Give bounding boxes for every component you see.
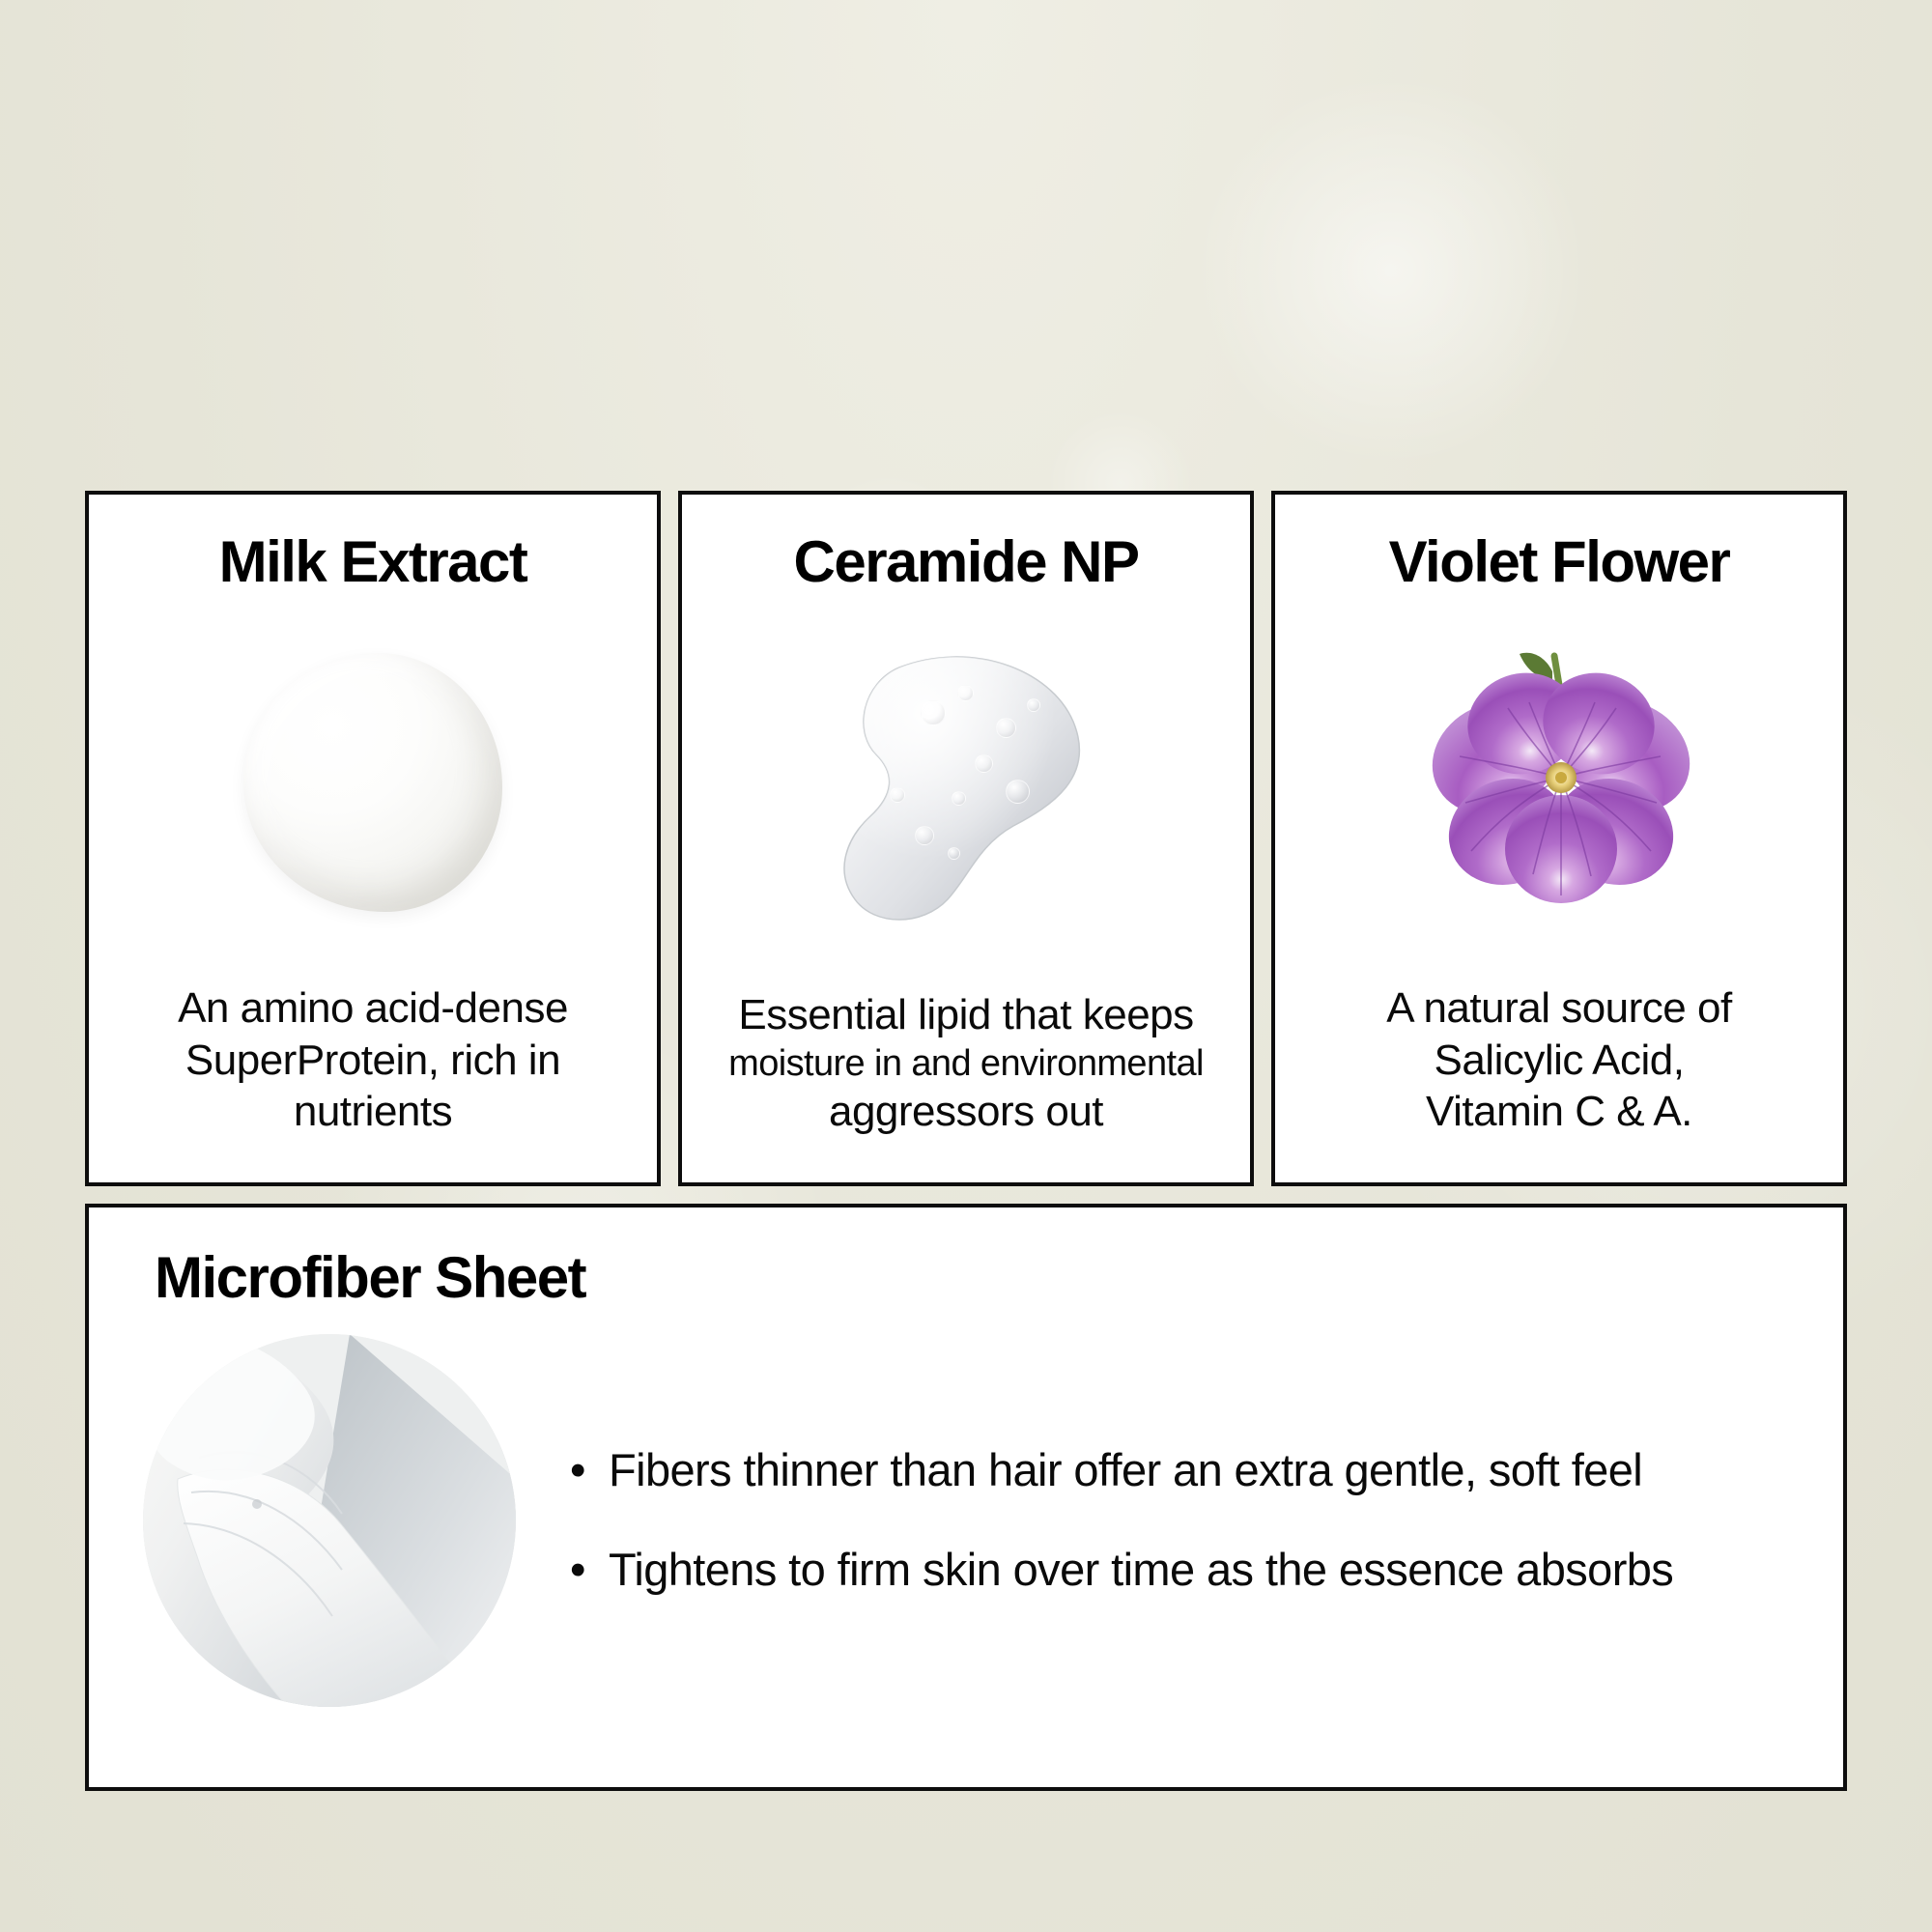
header: Textures + Ingredients That Play Well To… xyxy=(0,0,1932,332)
bullet-marker-icon: • xyxy=(570,1542,609,1599)
violet-flower-icon xyxy=(1400,642,1719,932)
card-description-violet-flower: A natural source of Salicylic Acid, Vita… xyxy=(1365,982,1752,1182)
desc-line: Essential lipid that keeps xyxy=(728,989,1204,1041)
microfiber-sheet-icon xyxy=(143,1334,516,1707)
microfiber-sheet-panel: Microfiber Sheet xyxy=(85,1204,1847,1791)
card-description-milk-extract: An amino acid-dense SuperProtein, rich i… xyxy=(156,982,589,1182)
ceramide-gel-icon xyxy=(807,646,1125,936)
desc-line: aggressors out xyxy=(728,1086,1204,1138)
sheet-section-title: Microfiber Sheet xyxy=(155,1244,1843,1311)
card-visual-ceramide-np xyxy=(682,592,1250,989)
page-subtitle: That Play Well Together xyxy=(0,249,1932,332)
desc-line: nutrients xyxy=(178,1086,568,1138)
sheet-section-body: • Fibers thinner than hair offer an extr… xyxy=(89,1334,1843,1707)
ingredient-card-ceramide-np: Ceramide NP xyxy=(678,491,1254,1186)
desc-line: moisture in and environmental xyxy=(728,1041,1204,1086)
card-title-violet-flower: Violet Flower xyxy=(1389,531,1730,592)
microfiber-bullet-list: • Fibers thinner than hair offer an extr… xyxy=(570,1442,1843,1599)
card-title-milk-extract: Milk Extract xyxy=(219,531,527,592)
bullet-marker-icon: • xyxy=(570,1442,609,1499)
card-visual-violet-flower xyxy=(1275,592,1843,982)
desc-line: Vitamin C & A. xyxy=(1386,1086,1731,1138)
list-item-text: Fibers thinner than hair offer an extra … xyxy=(609,1442,1642,1499)
list-item-text: Tightens to firm skin over time as the e… xyxy=(609,1542,1673,1599)
infographic-page: Textures + Ingredients That Play Well To… xyxy=(0,0,1932,1932)
list-item: • Fibers thinner than hair offer an extr… xyxy=(570,1442,1785,1499)
desc-line: An amino acid-dense xyxy=(178,982,568,1035)
card-title-ceramide-np: Ceramide NP xyxy=(794,531,1139,592)
page-title: Textures + Ingredients xyxy=(0,93,1932,207)
desc-line: SuperProtein, rich in xyxy=(178,1035,568,1087)
list-item: • Tightens to firm skin over time as the… xyxy=(570,1542,1785,1599)
ingredient-cards-row: Milk Extract An amino acid-dense SuperPr… xyxy=(85,491,1847,1186)
ingredient-card-milk-extract: Milk Extract An amino acid-dense SuperPr… xyxy=(85,491,661,1186)
card-description-ceramide-np: Essential lipid that keeps moisture in a… xyxy=(707,989,1225,1182)
desc-line: Salicylic Acid, xyxy=(1386,1035,1731,1087)
milk-blob-icon xyxy=(243,653,502,912)
card-visual-milk-extract xyxy=(89,592,657,982)
desc-line: A natural source of xyxy=(1386,982,1731,1035)
ingredient-card-violet-flower: Violet Flower xyxy=(1271,491,1847,1186)
